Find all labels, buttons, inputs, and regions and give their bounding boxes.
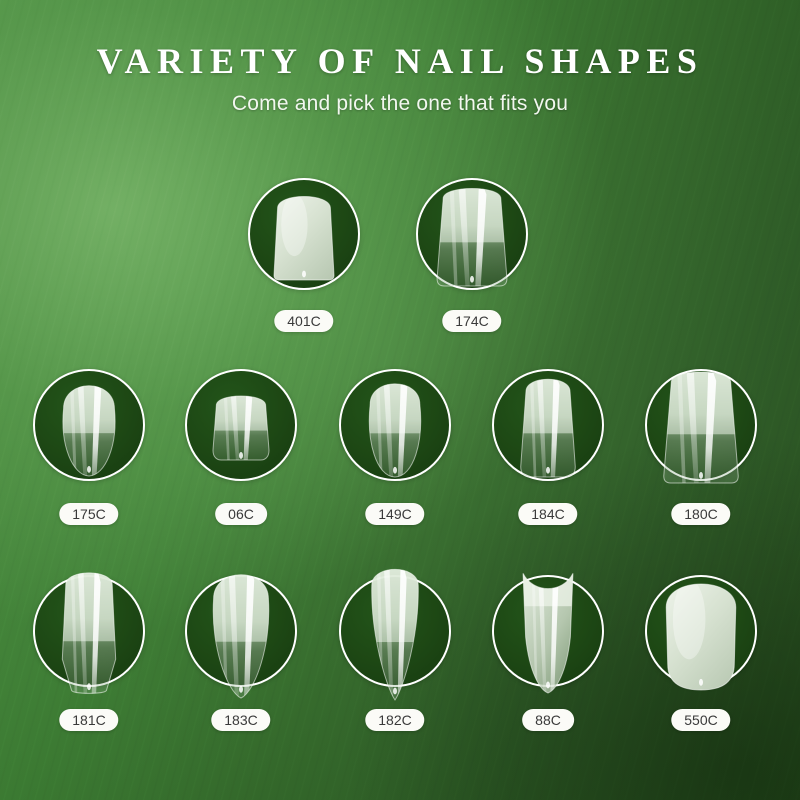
nail-shape-label[interactable]: 184C	[518, 503, 577, 525]
nail-notch-icon	[699, 472, 703, 479]
nail-tip-icon	[358, 554, 432, 708]
nail-tip-graphic	[492, 369, 604, 481]
nail-notch-icon	[87, 683, 91, 690]
nail-tip-graphic	[33, 369, 145, 481]
nail-shape-label[interactable]: 180C	[671, 503, 730, 525]
nail-shape-label[interactable]: 401C	[274, 310, 333, 332]
nail-tip-graphic	[33, 575, 145, 687]
nail-notch-icon	[302, 271, 306, 278]
nail-tip-graphic	[339, 369, 451, 481]
nail-shape-label[interactable]: 181C	[59, 709, 118, 731]
nail-tip-graphic	[645, 575, 757, 687]
poster-canvas: VARIETY OF NAIL SHAPES Come and pick the…	[0, 0, 800, 800]
nail-shape-label[interactable]: 183C	[211, 709, 270, 731]
nail-tip-icon	[428, 174, 516, 294]
nail-shape-label[interactable]: 88C	[522, 709, 574, 731]
nail-notch-icon	[393, 688, 397, 695]
nail-notch-icon	[393, 467, 397, 474]
nail-shape-label[interactable]: 06C	[215, 503, 267, 525]
nail-tip-icon	[656, 564, 746, 698]
nail-tip-graphic	[248, 178, 360, 290]
nail-shape-label[interactable]: 174C	[442, 310, 501, 332]
nail-tip-icon	[50, 366, 128, 484]
nail-shape-label[interactable]: 550C	[671, 709, 730, 731]
nail-shape-label[interactable]: 149C	[365, 503, 424, 525]
nail-shape-label[interactable]: 175C	[59, 503, 118, 525]
nail-notch-icon	[699, 679, 703, 686]
nail-notch-icon	[546, 467, 550, 474]
nail-tip-icon	[200, 556, 282, 706]
nail-tip-icon	[511, 365, 585, 485]
nail-notch-icon	[546, 682, 550, 689]
nail-notch-icon	[239, 686, 243, 693]
nail-tip-icon	[514, 561, 582, 701]
nail-tip-icon	[655, 359, 747, 491]
nail-tip-icon	[266, 180, 342, 288]
nail-tip-icon	[356, 365, 434, 485]
nail-tip-graphic	[185, 575, 297, 687]
nail-tip-graphic	[416, 178, 528, 290]
nail-tip-icon	[52, 559, 126, 703]
nail-tip-icon	[205, 382, 277, 468]
nail-notch-icon	[470, 276, 474, 283]
nail-tip-graphic	[492, 575, 604, 687]
nail-tip-graphic	[185, 369, 297, 481]
page-subtitle: Come and pick the one that fits you	[0, 92, 800, 116]
nail-shape-label[interactable]: 182C	[365, 709, 424, 731]
nail-tip-graphic	[339, 575, 451, 687]
nail-notch-icon	[239, 452, 243, 459]
page-title: VARIETY OF NAIL SHAPES	[0, 40, 800, 82]
nail-notch-icon	[87, 466, 91, 473]
nail-tip-graphic	[645, 369, 757, 481]
